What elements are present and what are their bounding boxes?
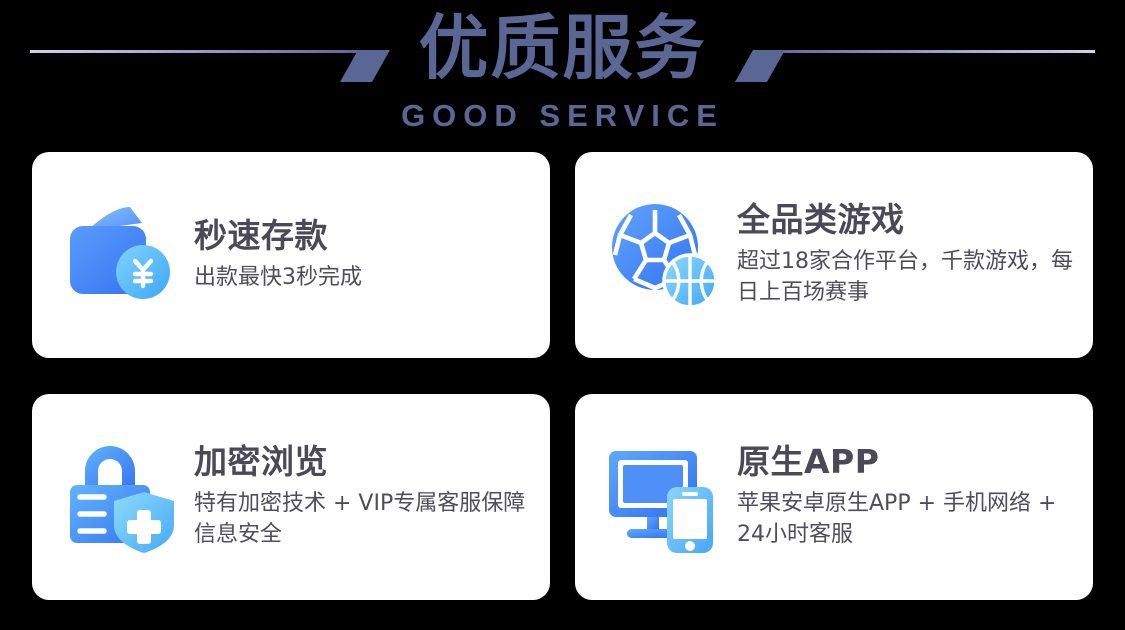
soccer-basketball-icon [601,193,725,317]
page-title: 优质服务 [393,13,733,83]
service-card-deposit[interactable]: 秒速存款 出款最快3秒完成 [32,152,550,358]
card-text-block: 全品类游戏 超过18家合作平台，千款游戏，每日上百场赛事 [737,201,1075,308]
service-card-grid: 秒速存款 出款最快3秒完成 [32,152,1093,600]
header-left-decoration-icon [0,0,400,96]
service-card-native-app[interactable]: 原生APP 苹果安卓原生APP + 手机网络 + 24小时客服 [575,394,1093,600]
page-header: 优质服务 GOOD SERVICE [0,0,1125,145]
page-subtitle: GOOD SERVICE [401,100,724,131]
card-description: 苹果安卓原生APP + 手机网络 + 24小时客服 [737,488,1075,550]
header-right-decoration-icon [725,0,1125,96]
lock-shield-icon [58,435,182,559]
monitor-phone-icon [601,435,725,559]
card-text-block: 原生APP 苹果安卓原生APP + 手机网络 + 24小时客服 [737,443,1075,550]
card-text-block: 加密浏览 特有加密技术 + VIP专属客服保障信息安全 [194,443,532,550]
card-description: 出款最快3秒完成 [194,262,362,293]
card-title: 原生APP [737,443,1075,482]
service-card-encryption[interactable]: 加密浏览 特有加密技术 + VIP专属客服保障信息安全 [32,394,550,600]
card-description: 特有加密技术 + VIP专属客服保障信息安全 [194,488,532,550]
header-title-row: 优质服务 [0,0,1125,96]
service-card-games[interactable]: 全品类游戏 超过18家合作平台，千款游戏，每日上百场赛事 [575,152,1093,358]
card-title: 全品类游戏 [737,201,1075,240]
card-title: 加密浏览 [194,443,532,482]
card-title: 秒速存款 [194,217,362,256]
card-description: 超过18家合作平台，千款游戏，每日上百场赛事 [737,246,1075,308]
card-text-block: 秒速存款 出款最快3秒完成 [194,217,362,293]
wallet-yen-icon [58,193,182,317]
